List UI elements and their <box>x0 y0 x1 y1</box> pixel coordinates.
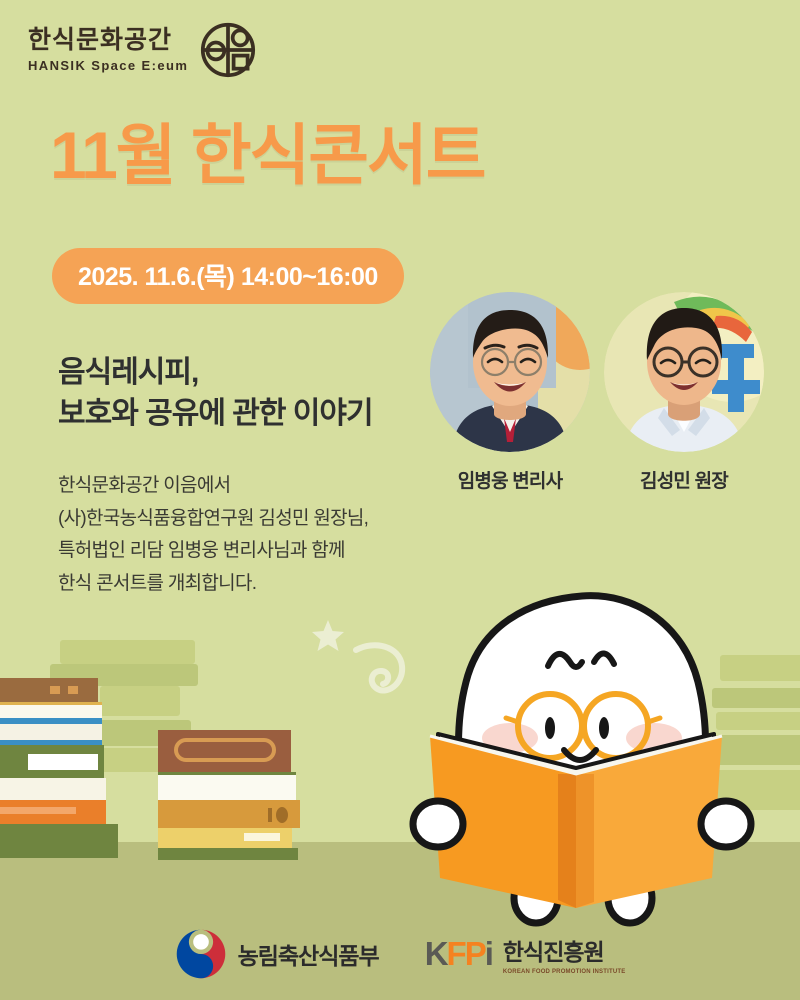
center-book-stack <box>158 730 313 860</box>
date-badge: 2025. 11.6.(목) 14:00~16:00 <box>52 248 404 304</box>
footer-logos: 농림축산식품부 K F P i 한식진흥원 KOREAN FOOD PROMOT… <box>0 928 800 980</box>
body-line: 한식문화공간 이음에서 <box>58 470 368 503</box>
speaker-card: 김성민 원장 <box>604 292 764 493</box>
taegeuk-logo-icon <box>175 928 227 980</box>
speaker-list: 임병웅 변리사 <box>430 292 764 493</box>
body-line: (사)한국농식품융합연구원 김성민 원장님, <box>58 503 368 536</box>
kfpi-letter-i: i <box>485 935 492 973</box>
left-book-stack <box>0 678 118 858</box>
speaker-name: 김성민 원장 <box>604 466 764 493</box>
kfpi-letter-p: P <box>465 935 485 973</box>
page-title: 11월 한식콘서트 <box>50 122 484 188</box>
speaker-card: 임병웅 변리사 <box>430 292 590 493</box>
institute-text-block: 한식진흥원 KOREAN FOOD PROMOTION INSTITUTE <box>503 933 626 975</box>
speaker-photo-kim-seongmin <box>604 292 764 452</box>
logo-korean-text: 한식문화공간 <box>28 27 188 55</box>
body-paragraph: 한식문화공간 이음에서 (사)한국농식품융합연구원 김성민 원장님, 특허법인 … <box>58 470 368 601</box>
body-line: 특허법인 리담 임병웅 변리사님과 함께 <box>58 535 368 568</box>
logo-english-text: HANSIK Space E:eum <box>28 58 188 73</box>
speaker-photo-lim-byeongung <box>430 292 590 452</box>
star-doodle <box>310 618 346 654</box>
kfpi-letter-k: K <box>425 935 447 973</box>
bg-book-silhouette <box>60 640 195 664</box>
ministry-name: 농림축산식품부 <box>238 937 379 971</box>
brand-logo: 한식문화공간 HANSIK Space E:eum <box>28 22 256 78</box>
kfpi-logo-group: K F P i 한식진흥원 KOREAN FOOD PROMOTION INST… <box>425 933 626 975</box>
institute-subtitle: KOREAN FOOD PROMOTION INSTITUTE <box>503 969 626 975</box>
speaker-name: 임병웅 변리사 <box>430 466 590 493</box>
ministry-logo-group: 농림축산식품부 <box>175 928 379 980</box>
kfpi-wordmark: K F P i <box>425 935 492 973</box>
poster-canvas: 한식문화공간 HANSIK Space E:eum 11월 한식콘서트 2025… <box>0 0 800 1000</box>
body-line: 한식 콘서트를 개최합니다. <box>58 568 368 601</box>
kfpi-letter-f: F <box>447 935 465 973</box>
subtitle-line: 음식레시피, <box>58 352 373 393</box>
subtitle-line: 보호와 공유에 관한 이야기 <box>58 393 373 434</box>
institute-name: 한식진흥원 <box>503 933 626 967</box>
riceball-character-reading-book <box>398 578 766 928</box>
subtitle: 음식레시피, 보호와 공유에 관한 이야기 <box>58 352 373 435</box>
eum-circle-emblem-icon <box>200 22 256 78</box>
